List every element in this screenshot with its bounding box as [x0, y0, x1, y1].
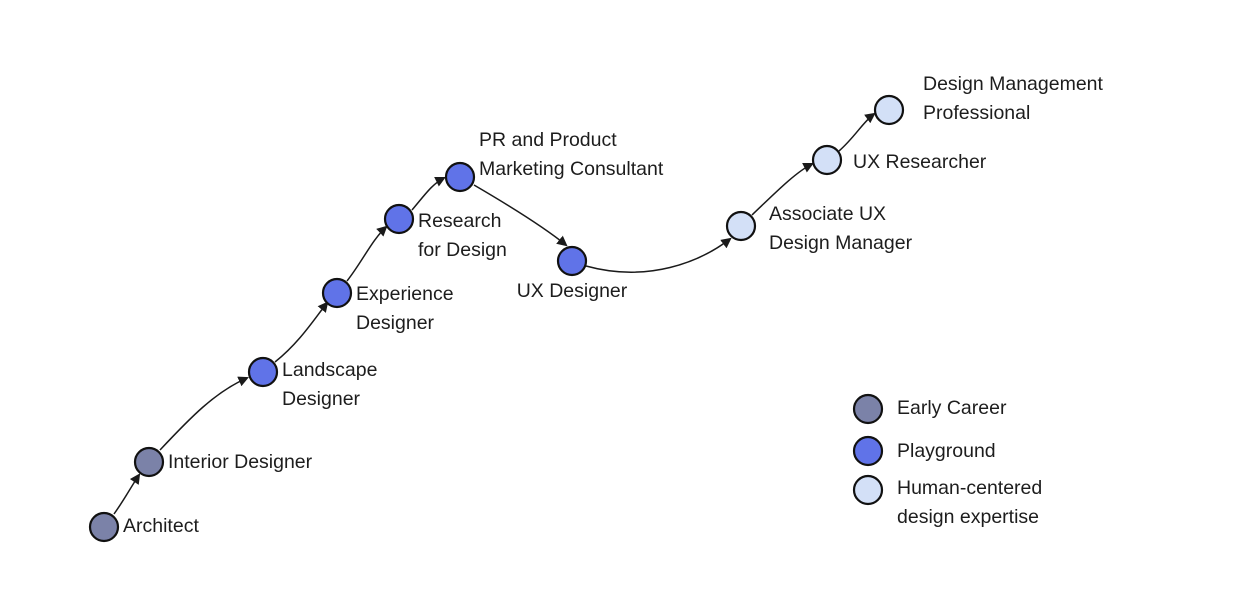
edge-experience-designer-to-research-for-design: [347, 227, 386, 281]
node-circle-ux-researcher[interactable]: [813, 146, 841, 174]
node-circle-experience-designer[interactable]: [323, 279, 351, 307]
node-pr-product-marketing[interactable]: PR and ProductMarketing Consultant: [446, 129, 664, 191]
legend-playground[interactable]: Playground: [854, 437, 996, 465]
edge-research-for-design-to-pr-product-marketing: [412, 178, 444, 210]
node-circle-pr-product-marketing[interactable]: [446, 163, 474, 191]
legend-playground-swatch: [854, 437, 882, 465]
edge-landscape-designer-to-experience-designer: [275, 303, 327, 362]
node-label-interior-designer: Interior Designer: [168, 451, 313, 473]
node-label-design-mgmt-pro: Design ManagementProfessional: [923, 73, 1104, 124]
node-label-ux-researcher: UX Researcher: [853, 151, 987, 173]
edge-architect-to-interior-designer: [114, 475, 139, 514]
node-research-for-design[interactable]: Researchfor Design: [385, 205, 507, 261]
node-label-architect: Architect: [123, 515, 199, 537]
node-experience-designer[interactable]: ExperienceDesigner: [323, 279, 454, 334]
node-circle-associate-ux-manager[interactable]: [727, 212, 755, 240]
node-label-pr-product-marketing: PR and ProductMarketing Consultant: [479, 129, 664, 180]
node-associate-ux-manager[interactable]: Associate UXDesign Manager: [727, 203, 913, 254]
node-label-experience-designer: ExperienceDesigner: [356, 283, 454, 334]
node-label-ux-designer: UX Designer: [517, 280, 628, 302]
legend-group: Early CareerPlaygroundHuman-centereddesi…: [854, 395, 1042, 528]
legend-human-centered-label: Human-centereddesign expertise: [897, 477, 1042, 528]
edge-ux-designer-to-associate-ux-manager: [586, 239, 730, 272]
node-circle-architect[interactable]: [90, 513, 118, 541]
edge-ux-researcher-to-design-mgmt-pro: [839, 114, 874, 151]
node-circle-landscape-designer[interactable]: [249, 358, 277, 386]
node-architect[interactable]: Architect: [90, 513, 199, 541]
legend-early-career-label: Early Career: [897, 397, 1007, 419]
node-label-landscape-designer: LandscapeDesigner: [282, 359, 377, 410]
node-circle-interior-designer[interactable]: [135, 448, 163, 476]
nodes-layer: ArchitectInterior DesignerLandscapeDesig…: [90, 73, 1104, 541]
edge-interior-designer-to-landscape-designer: [160, 378, 247, 450]
node-label-associate-ux-manager: Associate UXDesign Manager: [769, 203, 913, 254]
node-landscape-designer[interactable]: LandscapeDesigner: [249, 358, 377, 410]
node-circle-research-for-design[interactable]: [385, 205, 413, 233]
career-path-diagram: ArchitectInterior DesignerLandscapeDesig…: [0, 0, 1240, 611]
career-path-canvas: ArchitectInterior DesignerLandscapeDesig…: [0, 0, 1240, 611]
legend-human-centered[interactable]: Human-centereddesign expertise: [854, 476, 1042, 528]
node-design-mgmt-pro[interactable]: Design ManagementProfessional: [875, 73, 1104, 124]
legend-early-career-swatch: [854, 395, 882, 423]
node-circle-design-mgmt-pro[interactable]: [875, 96, 903, 124]
legend-early-career[interactable]: Early Career: [854, 395, 1007, 423]
node-label-research-for-design: Researchfor Design: [418, 210, 507, 261]
legend-human-centered-swatch: [854, 476, 882, 504]
node-interior-designer[interactable]: Interior Designer: [135, 448, 313, 476]
legend-playground-label: Playground: [897, 440, 996, 462]
node-circle-ux-designer[interactable]: [558, 247, 586, 275]
node-ux-designer[interactable]: UX Designer: [517, 247, 628, 302]
